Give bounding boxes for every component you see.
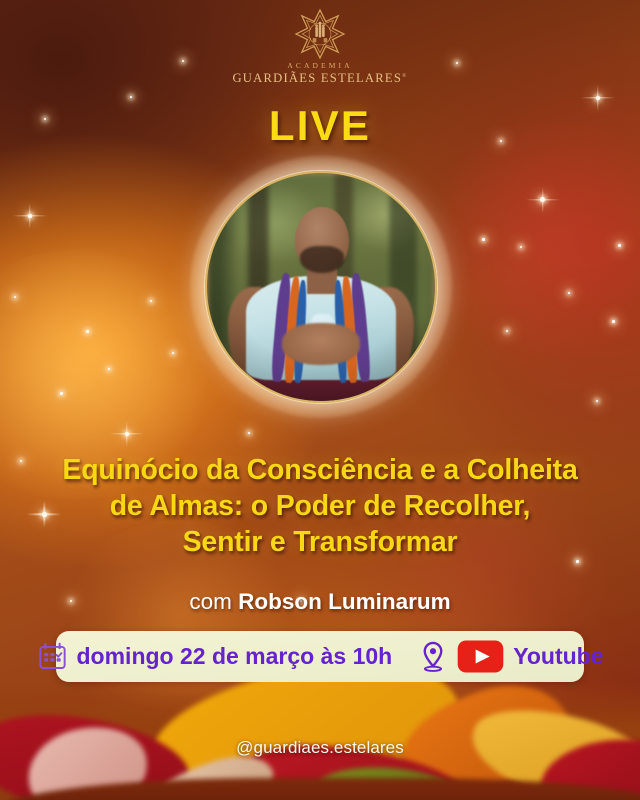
platform-label: Youtube	[513, 643, 603, 670]
youtube-icon[interactable]	[457, 640, 504, 673]
sparkle	[86, 330, 89, 333]
sparkle	[125, 432, 129, 436]
portrait-photo	[207, 173, 435, 401]
headline-line-1: Equinócio da Consciência e a Colheita	[16, 452, 624, 488]
sparkle	[596, 400, 598, 402]
event-datetime: domingo 22 de março às 10h	[77, 643, 393, 670]
logo-trademark: ®	[402, 73, 407, 79]
speaker-credit: com Robson Luminarum	[0, 589, 640, 615]
logo-brand-name: GUARDIÃES ESTELARES®	[232, 71, 407, 86]
logo-brand-text: GUARDIÃES ESTELARES	[232, 71, 402, 85]
event-info-bar: domingo 22 de março às 10h Youtube	[56, 631, 584, 682]
sparkle	[568, 292, 570, 294]
live-announcement-poster: ACADEMIA GUARDIÃES ESTELARES® LIVE Equin…	[0, 0, 640, 800]
sparkle	[150, 300, 152, 302]
headline-line-2: de Almas: o Poder de Recolher,	[16, 488, 624, 524]
social-handle: @guardiaes.estelares	[0, 738, 640, 758]
sparkle	[618, 244, 621, 247]
sparkle	[60, 392, 63, 395]
sparkle	[482, 238, 485, 241]
speaker-name: Robson Luminarum	[238, 589, 451, 614]
page-title: Equinócio da Consciência e a Colheita de…	[0, 452, 640, 560]
sparkle	[520, 246, 522, 248]
speaker-portrait	[205, 171, 437, 403]
sparkle	[596, 96, 600, 100]
logo-academia-label: ACADEMIA	[287, 61, 352, 70]
sparkle	[612, 320, 615, 323]
map-pin-icon	[418, 641, 448, 673]
sparkle	[108, 368, 110, 370]
sparkle	[130, 96, 132, 98]
sparkle	[14, 296, 16, 298]
sparkle	[540, 197, 545, 202]
star-mandala-icon	[294, 8, 346, 60]
headline-line-3: Sentir e Transformar	[16, 524, 624, 560]
academy-logo: ACADEMIA GUARDIÃES ESTELARES®	[0, 8, 640, 86]
speaker-prefix: com	[189, 589, 232, 614]
sparkle	[248, 432, 250, 434]
sparkle	[28, 214, 32, 218]
calendar-check-icon	[37, 641, 68, 672]
sparkle	[172, 352, 174, 354]
live-badge: LIVE	[0, 102, 640, 150]
sparkle	[576, 560, 579, 563]
sparkle	[506, 330, 508, 332]
